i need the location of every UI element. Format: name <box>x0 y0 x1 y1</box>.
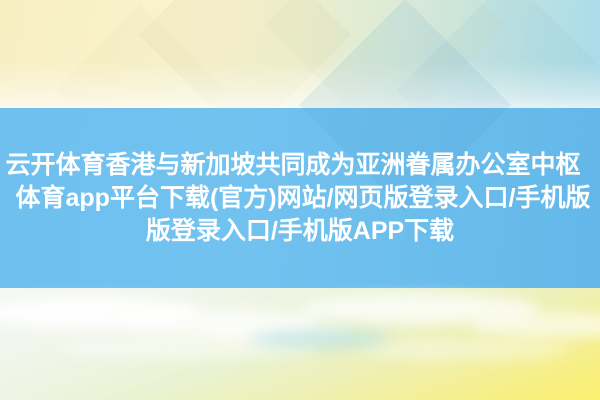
cloud-blue-tint <box>250 330 390 348</box>
headline-text-block: 云开体育香港与新加坡共同成为亚洲眷属办公室中枢 体育app平台下载(官方)网站/… <box>0 108 600 288</box>
promo-banner: 云开体育香港与新加坡共同成为亚洲眷属办公室中枢 体育app平台下载(官方)网站/… <box>0 0 600 400</box>
top-gradient-panel <box>0 0 600 110</box>
headline-line-1: 云开体育香港与新加坡共同成为亚洲眷属办公室中枢 <box>5 149 580 182</box>
top-panel-fade-overlay <box>0 0 600 110</box>
headline-line-3: 版登录入口/手机版APP下载 <box>146 215 454 248</box>
headline-line-2: 体育app平台下载(官方)网站/网页版登录入口/手机版 <box>16 182 591 215</box>
